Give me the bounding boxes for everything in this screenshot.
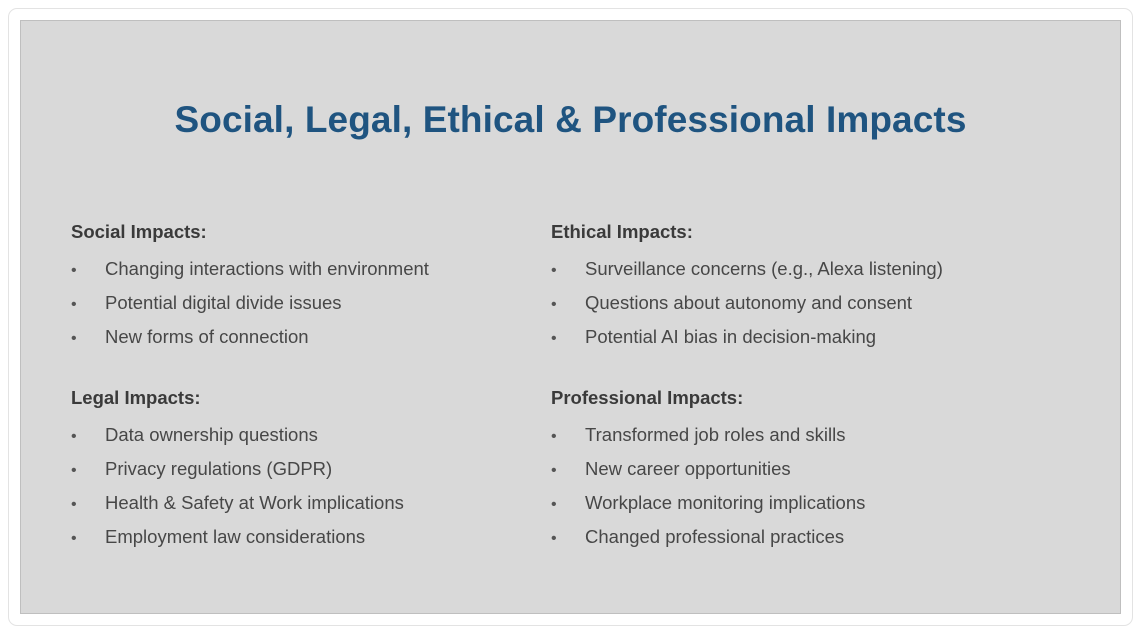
list-item: •Data ownership questions bbox=[71, 419, 536, 453]
list-item-label: Health & Safety at Work implications bbox=[105, 487, 404, 519]
list-item: •Workplace monitoring implications bbox=[551, 487, 1081, 521]
list-item-label: Workplace monitoring implications bbox=[585, 487, 865, 519]
impact-section: Legal Impacts:•Data ownership questions•… bbox=[71, 387, 536, 555]
bullet-point-icon: • bbox=[71, 523, 105, 555]
list-item: •Surveillance concerns (e.g., Alexa list… bbox=[551, 253, 1081, 287]
bullet-point-icon: • bbox=[551, 323, 585, 355]
list-item: •Employment law considerations bbox=[71, 521, 536, 555]
list-item-label: New forms of connection bbox=[105, 321, 309, 353]
list-item: •Privacy regulations (GDPR) bbox=[71, 453, 536, 487]
bullet-point-icon: • bbox=[71, 489, 105, 521]
right-column: Ethical Impacts:•Surveillance concerns (… bbox=[536, 221, 1081, 555]
list-item-label: Potential AI bias in decision-making bbox=[585, 321, 876, 353]
list-item-label: Employment law considerations bbox=[105, 521, 365, 553]
bullet-point-icon: • bbox=[551, 289, 585, 321]
list-item-label: New career opportunities bbox=[585, 453, 791, 485]
section-heading: Ethical Impacts: bbox=[551, 221, 1081, 243]
slide-body-columns: Social Impacts:•Changing interactions wi… bbox=[21, 221, 1120, 555]
list-item-label: Potential digital divide issues bbox=[105, 287, 342, 319]
left-column: Social Impacts:•Changing interactions wi… bbox=[21, 221, 536, 555]
impact-section: Social Impacts:•Changing interactions wi… bbox=[71, 221, 536, 355]
bullet-point-icon: • bbox=[551, 455, 585, 487]
impact-section: Professional Impacts:•Transformed job ro… bbox=[551, 387, 1081, 555]
list-item-label: Transformed job roles and skills bbox=[585, 419, 845, 451]
bullet-point-icon: • bbox=[551, 523, 585, 555]
bullet-point-icon: • bbox=[71, 455, 105, 487]
slide-content-panel: Social, Legal, Ethical & Professional Im… bbox=[20, 20, 1121, 614]
list-item: •Changed professional practices bbox=[551, 521, 1081, 555]
bullet-list: •Changing interactions with environment•… bbox=[71, 253, 536, 355]
list-item: •Health & Safety at Work implications bbox=[71, 487, 536, 521]
bullet-point-icon: • bbox=[71, 255, 105, 287]
list-item-label: Questions about autonomy and consent bbox=[585, 287, 912, 319]
bullet-list: •Surveillance concerns (e.g., Alexa list… bbox=[551, 253, 1081, 355]
list-item-label: Surveillance concerns (e.g., Alexa liste… bbox=[585, 253, 943, 285]
list-item-label: Data ownership questions bbox=[105, 419, 318, 451]
list-item: •New career opportunities bbox=[551, 453, 1081, 487]
bullet-point-icon: • bbox=[551, 255, 585, 287]
list-item-label: Privacy regulations (GDPR) bbox=[105, 453, 332, 485]
bullet-point-icon: • bbox=[551, 421, 585, 453]
section-heading: Social Impacts: bbox=[71, 221, 536, 243]
bullet-point-icon: • bbox=[551, 489, 585, 521]
bullet-point-icon: • bbox=[71, 421, 105, 453]
bullet-list: •Data ownership questions•Privacy regula… bbox=[71, 419, 536, 555]
list-item: •Changing interactions with environment bbox=[71, 253, 536, 287]
bullet-list: •Transformed job roles and skills•New ca… bbox=[551, 419, 1081, 555]
section-heading: Legal Impacts: bbox=[71, 387, 536, 409]
list-item-label: Changing interactions with environment bbox=[105, 253, 429, 285]
list-item: •Questions about autonomy and consent bbox=[551, 287, 1081, 321]
list-item: •New forms of connection bbox=[71, 321, 536, 355]
list-item: •Potential AI bias in decision-making bbox=[551, 321, 1081, 355]
slide-frame: Social, Legal, Ethical & Professional Im… bbox=[8, 8, 1133, 626]
section-heading: Professional Impacts: bbox=[551, 387, 1081, 409]
bullet-point-icon: • bbox=[71, 289, 105, 321]
list-item: •Transformed job roles and skills bbox=[551, 419, 1081, 453]
list-item: •Potential digital divide issues bbox=[71, 287, 536, 321]
slide-title: Social, Legal, Ethical & Professional Im… bbox=[21, 99, 1120, 141]
impact-section: Ethical Impacts:•Surveillance concerns (… bbox=[551, 221, 1081, 355]
bullet-point-icon: • bbox=[71, 323, 105, 355]
list-item-label: Changed professional practices bbox=[585, 521, 844, 553]
